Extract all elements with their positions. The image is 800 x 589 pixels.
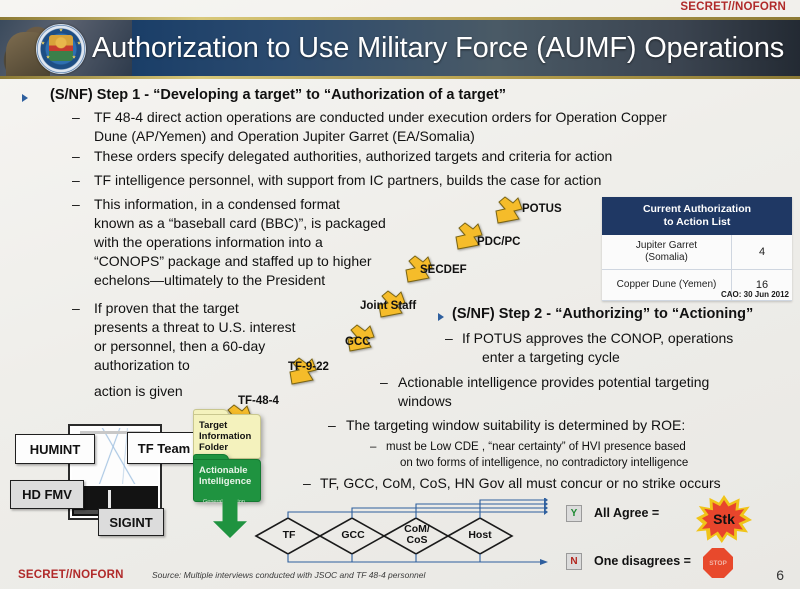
one-disagrees-label: One disagrees = [594, 554, 691, 568]
slide-page: SECRET//NOFORN Authorization to Use Mili… [0, 0, 800, 589]
dash-icon: – [72, 109, 80, 125]
step1-b4-l1: This information, in a condensed format [94, 196, 340, 212]
step1-b4-l4: “CONOPS” package and staffed up to highe… [94, 253, 372, 269]
decision-node-com-cos: CoM/ CoS [400, 524, 434, 546]
step1-heading: (S/NF) Step 1 - “Developing a target” to… [50, 87, 506, 103]
step2-b2-l2: windows [398, 393, 452, 409]
auth-title-line2: to Action List [606, 216, 788, 229]
step1-b5-l5: action is given [94, 383, 183, 399]
no-marker: N [566, 553, 582, 570]
step1-b4-l2: known as a “baseball card (BBC)”, is pac… [94, 215, 386, 231]
escalation-label-tf-48-4: TF-48-4 [238, 395, 279, 407]
folder-tif-l3: Folder [199, 442, 251, 453]
folder-actionable-intelligence: Actionable Intelligence General Location [193, 454, 259, 500]
escalation-label-joint-staff: Joint Staff [360, 300, 416, 312]
page-number: 6 [776, 567, 784, 583]
auth-row0-name: Jupiter Garret (Somalia) [602, 235, 731, 269]
yes-marker: Y [566, 505, 582, 522]
step2-heading: (S/NF) Step 2 - “Authorizing” to “Action… [452, 306, 753, 322]
step1-b1-l2: Dune (AP/Yemen) and Operation Jupiter Ga… [94, 128, 475, 144]
decision-flow-diagram: TF GCC CoM/ CoS Host [248, 498, 548, 568]
step1-b5-l2: presents a threat to U.S. interest [94, 319, 296, 335]
dash-icon: – [72, 300, 80, 316]
dash-icon: – [445, 330, 453, 346]
box-humint: HUMINT [15, 434, 95, 464]
military-seal-icon [36, 24, 86, 74]
classification-top: SECRET//NOFORN [680, 1, 786, 13]
cao-date: CAO: 30 Jun 2012 [721, 290, 789, 299]
dash-icon: – [72, 196, 80, 212]
decision-node-tf: TF [274, 530, 304, 541]
folder-target-information-label: Target Information Folder [199, 420, 251, 453]
source-note: Source: Multiple interviews conducted wi… [152, 570, 425, 580]
step1-b2-l1: These orders specify delegated authoriti… [94, 148, 612, 164]
step2-bullet-icon [438, 313, 444, 321]
all-agree-label: All Agree = [594, 506, 659, 520]
up-right-arrow-icon [495, 196, 525, 226]
box-hd-fmv: HD FMV [10, 480, 84, 509]
dash-icon: – [328, 417, 336, 433]
classification-bottom: SECRET//NOFORN [18, 569, 124, 581]
dash-icon: – [303, 475, 311, 491]
table-row: Jupiter Garret (Somalia) 4 [602, 235, 792, 270]
box-sigint: SIGINT [98, 508, 164, 536]
decision-node-gcc: GCC [336, 530, 370, 541]
auth-row1-name: Copper Dune (Yemen) [602, 270, 731, 300]
step2-b2-l1: Actionable intelligence provides potenti… [398, 374, 709, 390]
step2-b1-l1: If POTUS approves the CONOP, operations [462, 330, 733, 346]
step2-b3-l1: The targeting window suitability is dete… [346, 417, 685, 433]
strike-starburst-icon: Stk [696, 495, 752, 543]
step1-bullet-icon [22, 94, 28, 102]
auth-title-line1: Current Authorization [606, 203, 788, 216]
step1-b4-l5: echelons—ultimately to the President [94, 272, 325, 288]
step2-final-bullet: TF, GCC, CoM, CoS, HN Gov all must concu… [320, 475, 721, 491]
escalation-label-tf-9-22: TF-9-22 [288, 361, 329, 373]
dash-icon: – [72, 148, 80, 164]
auth-row0-name-l2: (Somalia) [605, 252, 728, 264]
strike-label: Stk [713, 511, 735, 527]
folder-ai-label: Actionable Intelligence [199, 465, 251, 487]
step1-b5-l3: or personnel, then a 60-day [94, 338, 265, 354]
dash-icon: – [370, 441, 376, 453]
slide-header: Authorization to Use Military Force (AUM… [0, 17, 800, 79]
decision-node-com-cos-l2: CoS [400, 535, 434, 546]
auth-row0-name-l1: Jupiter Garret [605, 240, 728, 252]
step2-sub1-l1: must be Low CDE , “near certainty” of HV… [386, 441, 686, 453]
page-title: Authorization to Use Military Force (AUM… [92, 20, 784, 76]
current-authorization-table: Current Authorization to Action List Jup… [602, 197, 792, 301]
step1-b1-l1: TF 48-4 direct action operations are con… [94, 109, 667, 125]
dash-icon: – [72, 172, 80, 188]
box-tf-team: TF Team [127, 432, 201, 464]
escalation-label-pdc-pc: PDC/PC [477, 236, 520, 248]
auth-table-header: Current Authorization to Action List [602, 197, 792, 235]
step2-sub1-l2: on two forms of intelligence, no contrad… [400, 457, 688, 469]
folder-tif-l1: Target [199, 420, 251, 431]
auth-row0-count: 4 [731, 235, 792, 269]
folder-target-information: Target Information Folder [193, 409, 259, 457]
header-rule-bottom [0, 76, 800, 79]
step2-b1-l2: enter a targeting cycle [482, 349, 620, 365]
decision-node-host: Host [463, 530, 497, 541]
folder-tif-l2: Information [199, 431, 251, 442]
folder-ai-l2: Intelligence [199, 476, 251, 487]
step1-b5-l1: If proven that the target [94, 300, 239, 316]
stop-sign-label: STOP [709, 560, 727, 567]
escalation-label-secdef: SECDEF [420, 264, 467, 276]
escalation-label-potus: POTUS [522, 203, 562, 215]
step1-b4-l3: with the operations information into a [94, 234, 323, 250]
folder-ai-l1: Actionable [199, 465, 251, 476]
step1-b3-l1: TF intelligence personnel, with support … [94, 172, 601, 188]
stop-sign-icon: STOP [703, 548, 733, 578]
dash-icon: – [380, 374, 388, 390]
escalation-label-gcc: GCC [345, 336, 371, 348]
step1-b5-l4: authorization to [94, 357, 190, 373]
